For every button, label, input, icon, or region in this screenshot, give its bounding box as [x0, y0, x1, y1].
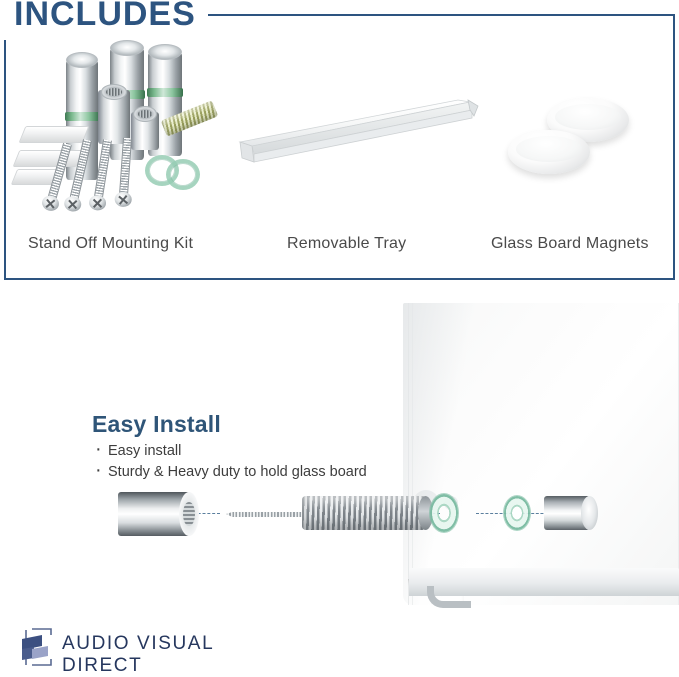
- includes-captions: Stand Off Mounting Kit Removable Tray Gl…: [0, 235, 679, 263]
- caption-removable-tray: Removable Tray: [287, 235, 406, 253]
- caption-glass-board-magnets: Glass Board Magnets: [491, 235, 649, 253]
- exploded-standoff-assembly: [118, 486, 548, 542]
- glass-washer: [504, 496, 530, 530]
- infographic-canvas: INCLUDES: [0, 0, 679, 672]
- tray-shape: [232, 96, 480, 178]
- threaded-barrel: [131, 112, 159, 150]
- brand-name: AUDIO VISUAL DIRECT: [62, 633, 268, 677]
- threaded-barrel: [98, 90, 130, 144]
- easy-install-bullets: Easy install Sturdy & Heavy duty to hold…: [95, 441, 425, 483]
- glass-washer: [430, 494, 458, 532]
- chrome-cap: [544, 496, 590, 530]
- standoff-mounting-kit-image: [14, 28, 234, 233]
- wall-anchor: [13, 150, 84, 167]
- glass-washer: [166, 159, 200, 190]
- board-removable-tray: [409, 568, 679, 596]
- bullet-item: Sturdy & Heavy duty to hold glass board: [95, 462, 425, 483]
- page-title: INCLUDES: [10, 0, 208, 34]
- caption-standoff-kit: Stand Off Mounting Kit: [28, 235, 193, 253]
- bullet-item: Easy install: [95, 441, 425, 462]
- easy-install-heading: Easy Install: [92, 411, 221, 438]
- logo-mark-icon: [18, 625, 58, 669]
- brand-logo: AUDIO VISUAL DIRECT: [18, 625, 268, 669]
- chrome-sleeve: [118, 492, 190, 536]
- glass-board-magnet: [508, 130, 590, 174]
- mounting-screw: [116, 138, 134, 201]
- glass-whiteboard-panel: [403, 303, 679, 605]
- removable-tray-image: [232, 96, 480, 178]
- threaded-bolt: [302, 496, 426, 530]
